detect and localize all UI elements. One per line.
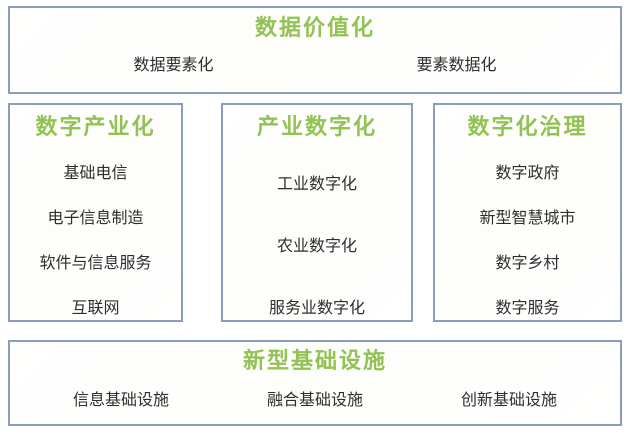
item-digital-government: 数字政府 [435,159,620,183]
panel-items-industrial-digitalization: 工业数字化 农业数字化 服务业数字化 [223,170,411,356]
item-data-elementization: 数据要素化 [32,51,315,75]
panel-title-new-infrastructure: 新型基础设施 [10,350,620,374]
panel-items-digital-industrialization: 基础电信 电子信息制造 软件与信息服务 互联网 [10,159,181,339]
item-agricultural-digitalization: 农业数字化 [223,232,411,256]
panel-title-data-valuation: 数据价值化 [10,17,620,41]
panel-new-infrastructure: 新型基础设施 信息基础设施 融合基础设施 创新基础设施 [8,340,622,426]
panel-title-industrial-digitalization: 产业数字化 [223,116,411,140]
item-service-industry-digitalization: 服务业数字化 [223,294,411,318]
panel-items-new-infrastructure: 信息基础设施 融合基础设施 创新基础设施 [10,386,620,410]
item-information-infrastructure: 信息基础设施 [24,386,218,410]
item-new-smart-city: 新型智慧城市 [435,204,620,228]
item-basic-telecom: 基础电信 [10,159,181,183]
item-element-datafication: 要素数据化 [315,51,598,75]
item-software-and-information-services: 软件与信息服务 [10,249,181,273]
item-internet: 互联网 [10,294,181,318]
digital-economy-diagram: 数据价值化 数据要素化 要素数据化 数字产业化 基础电信 电子信息制造 软件与信… [0,0,632,436]
item-innovation-infrastructure: 创新基础设施 [412,386,606,410]
panel-items-digital-governance: 数字政府 新型智慧城市 数字乡村 数字服务 [435,159,620,339]
item-digital-countryside: 数字乡村 [435,249,620,273]
item-industrial-digitalization: 工业数字化 [223,170,411,194]
panel-items-data-valuation: 数据要素化 要素数据化 [10,51,620,75]
panel-title-digital-industrialization: 数字产业化 [10,116,181,140]
item-electronic-information-manufacturing: 电子信息制造 [10,204,181,228]
panel-digital-governance: 数字化治理 数字政府 新型智慧城市 数字乡村 数字服务 [433,103,622,322]
panel-data-valuation: 数据价值化 数据要素化 要素数据化 [8,6,622,94]
item-digital-services: 数字服务 [435,294,620,318]
panel-industrial-digitalization: 产业数字化 工业数字化 农业数字化 服务业数字化 [221,103,413,322]
item-converged-infrastructure: 融合基础设施 [218,386,412,410]
panel-title-digital-governance: 数字化治理 [435,116,620,140]
panel-digital-industrialization: 数字产业化 基础电信 电子信息制造 软件与信息服务 互联网 [8,103,183,322]
